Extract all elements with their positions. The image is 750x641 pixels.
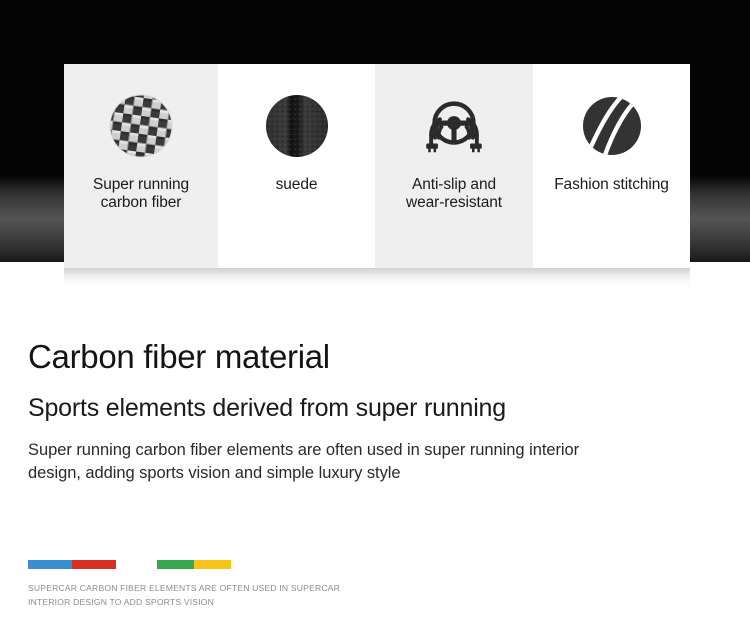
carbon-fiber-weave-icon: [105, 90, 177, 162]
feature-card-label: Fashion stitching: [551, 176, 672, 194]
page-body-text: Super running carbon fiber elements are …: [28, 439, 606, 486]
color-bar-group-one: [28, 560, 116, 569]
stitching-circle-icon: [576, 90, 648, 162]
feature-card-anti-slip[interactable]: Anti-slip and wear-resistant: [375, 64, 533, 268]
feature-card-suede[interactable]: suede: [218, 64, 375, 268]
feature-band-shadow: [64, 268, 690, 290]
suede-texture-icon: [261, 90, 333, 162]
feature-card-label: Super running carbon fiber: [90, 176, 192, 212]
steering-wheel-hands-icon: [418, 90, 490, 162]
color-bar-green: [157, 560, 194, 569]
footnote-caption: SUPERCAR CARBON FIBER ELEMENTS ARE OFTEN…: [28, 582, 448, 610]
feature-card-carbon-fiber[interactable]: Super running carbon fiber: [64, 64, 218, 268]
feature-card-label: suede: [273, 176, 321, 194]
color-bar-group-two: [157, 560, 231, 569]
feature-card-label: Anti-slip and wear-resistant: [403, 176, 505, 212]
color-bar-row: [28, 560, 231, 569]
color-bar-yellow: [194, 560, 231, 569]
page-subheadline: Sports elements derived from super runni…: [28, 393, 528, 423]
product-detail-page: Super running carbon fiber: [0, 0, 750, 641]
page-headline: Carbon fiber material: [28, 338, 688, 377]
color-bar-red: [72, 560, 116, 569]
feature-card-band: Super running carbon fiber: [64, 64, 690, 268]
color-bar-blue: [28, 560, 72, 569]
feature-card-stitching[interactable]: Fashion stitching: [533, 64, 690, 268]
copy-block: Carbon fiber material Sports elements de…: [28, 338, 688, 486]
